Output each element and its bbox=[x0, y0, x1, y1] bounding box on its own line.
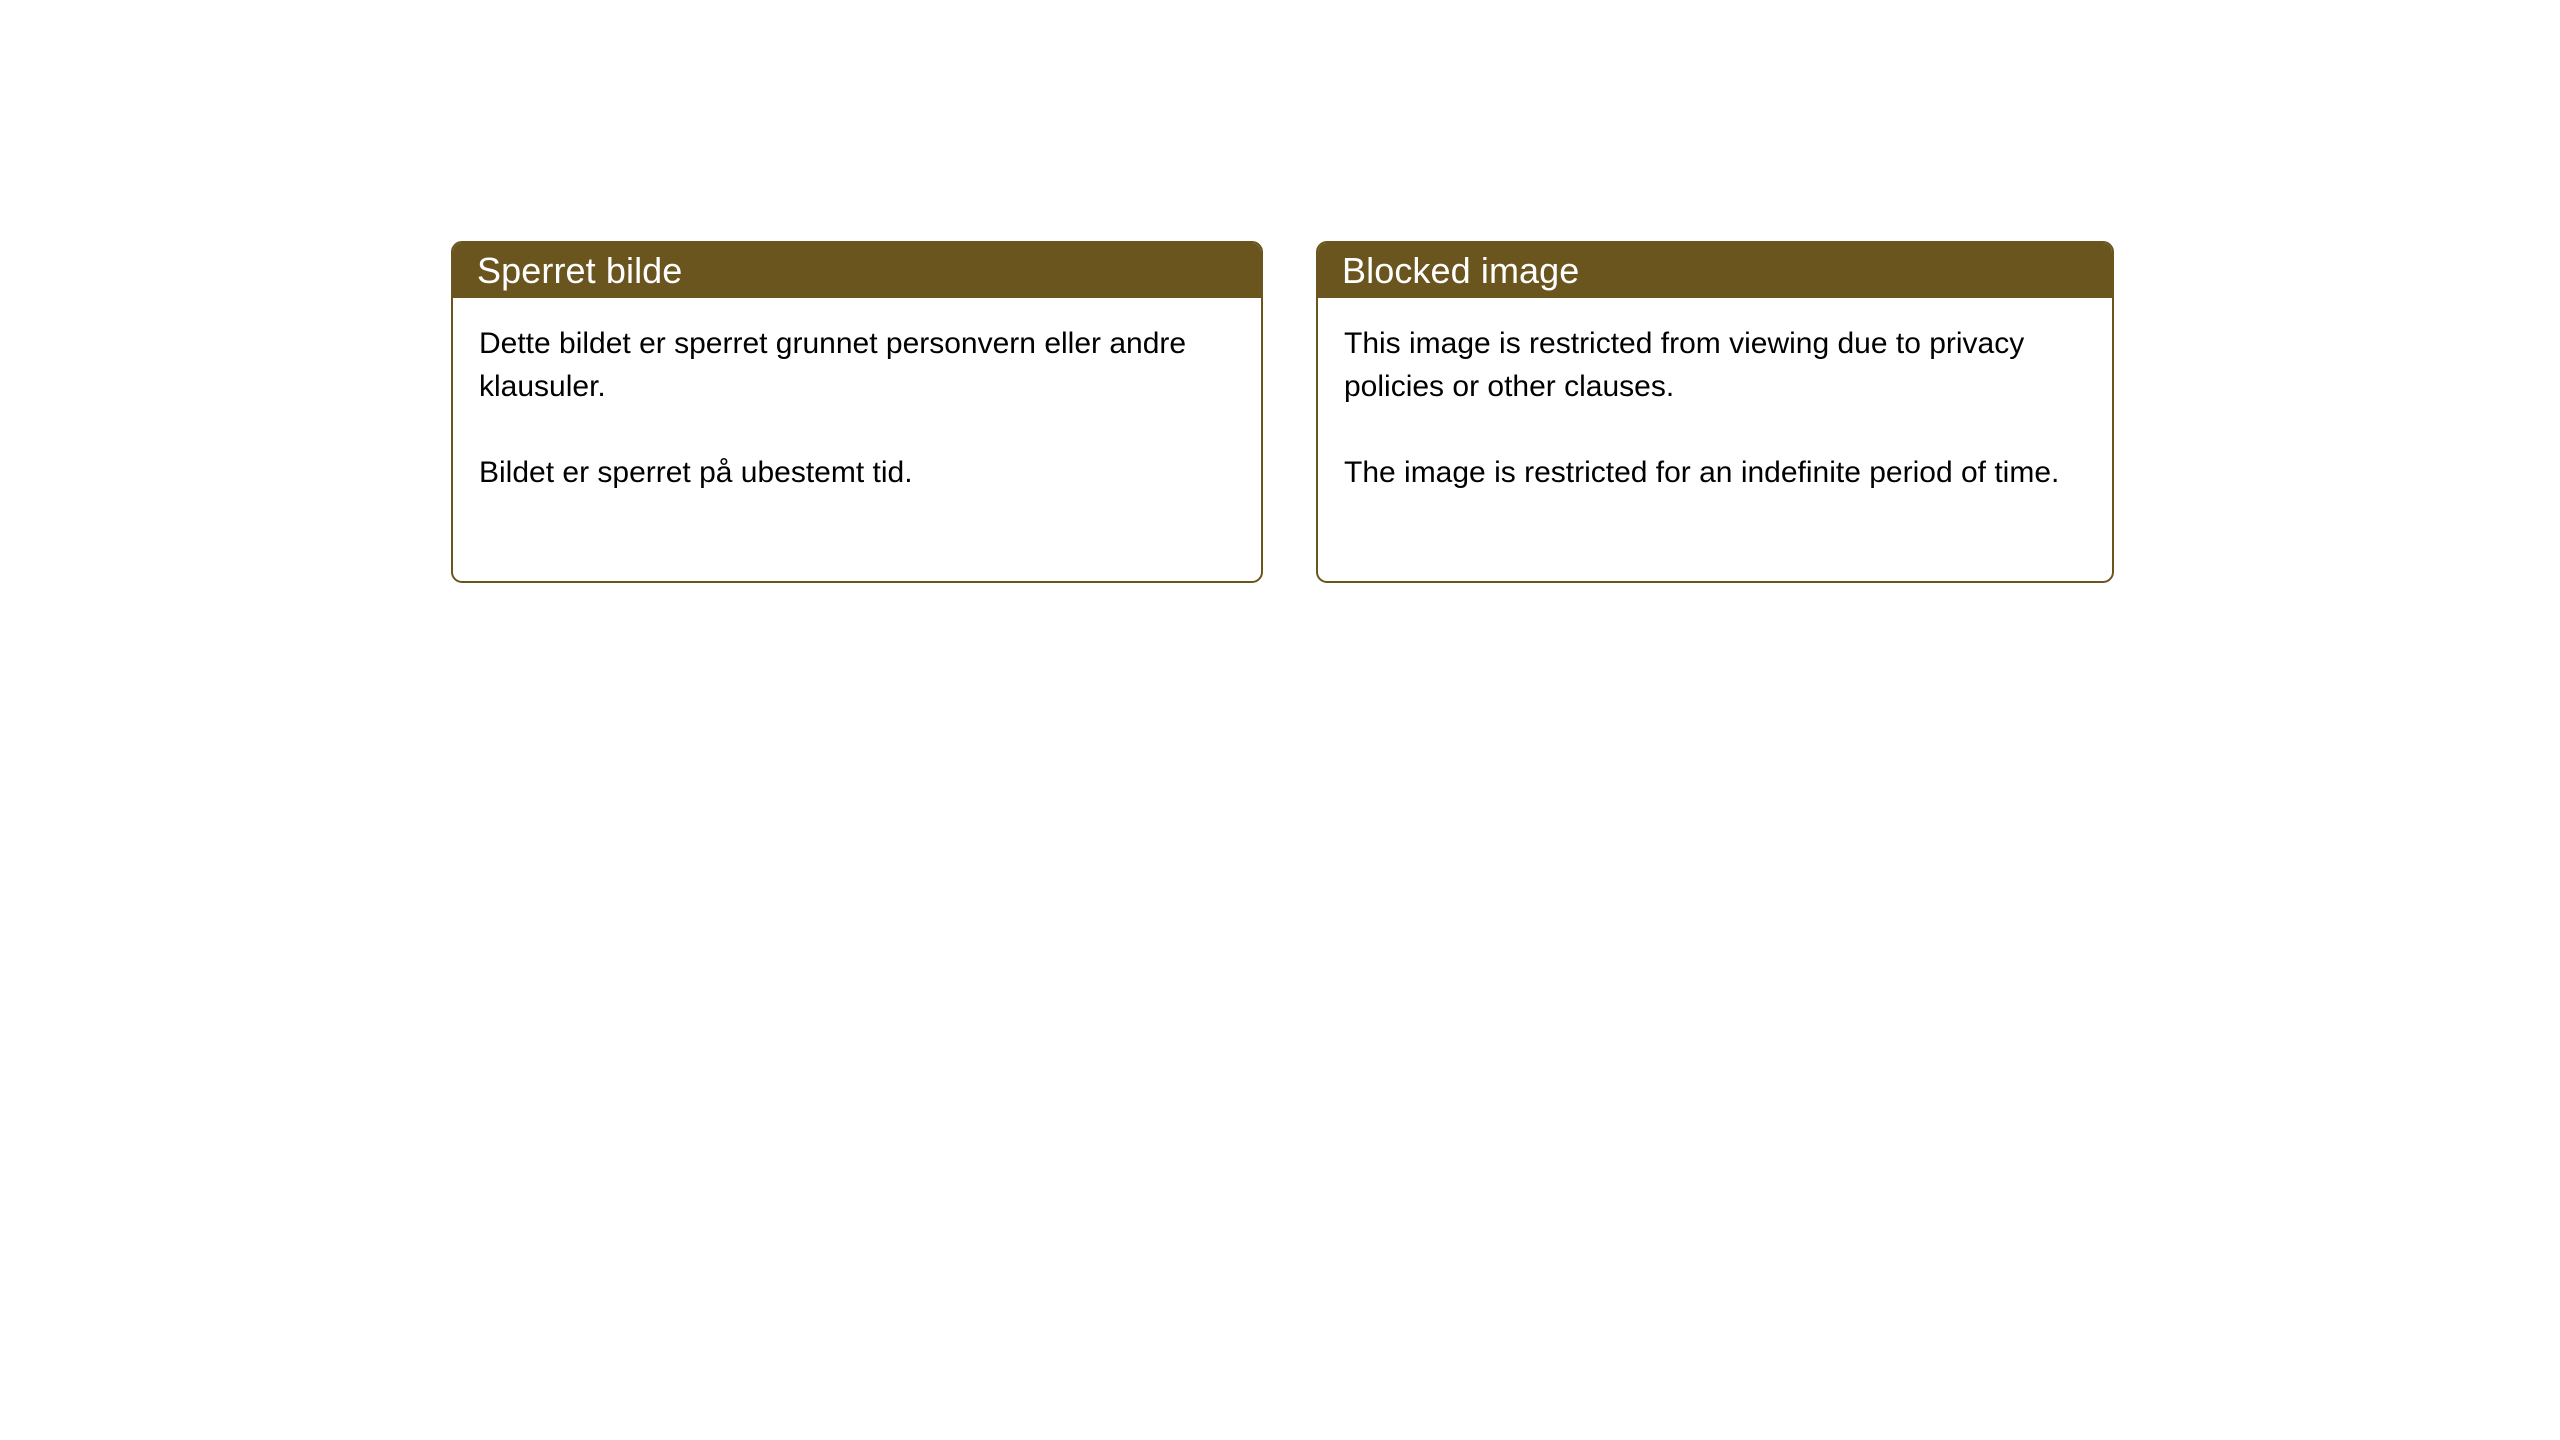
blocked-image-notice-english: Blocked image This image is restricted f… bbox=[1316, 241, 2114, 583]
blocked-image-notices: Sperret bilde Dette bildet er sperret gr… bbox=[451, 241, 2114, 583]
notice-paragraph-reason-english: This image is restricted from viewing du… bbox=[1344, 322, 2086, 408]
notice-paragraph-duration-norwegian: Bildet er sperret på ubestemt tid. bbox=[479, 451, 1235, 494]
blocked-image-notice-norwegian: Sperret bilde Dette bildet er sperret gr… bbox=[451, 241, 1263, 583]
notice-title-english: Blocked image bbox=[1342, 251, 1579, 291]
notice-paragraph-reason-norwegian: Dette bildet er sperret grunnet personve… bbox=[479, 322, 1235, 408]
notice-header-english: Blocked image bbox=[1318, 243, 2112, 298]
notice-body-english: This image is restricted from viewing du… bbox=[1318, 298, 2112, 581]
notice-header-norwegian: Sperret bilde bbox=[453, 243, 1261, 298]
notice-title-norwegian: Sperret bilde bbox=[477, 251, 682, 291]
notice-paragraph-duration-english: The image is restricted for an indefinit… bbox=[1344, 451, 2086, 494]
notice-body-norwegian: Dette bildet er sperret grunnet personve… bbox=[453, 298, 1261, 581]
